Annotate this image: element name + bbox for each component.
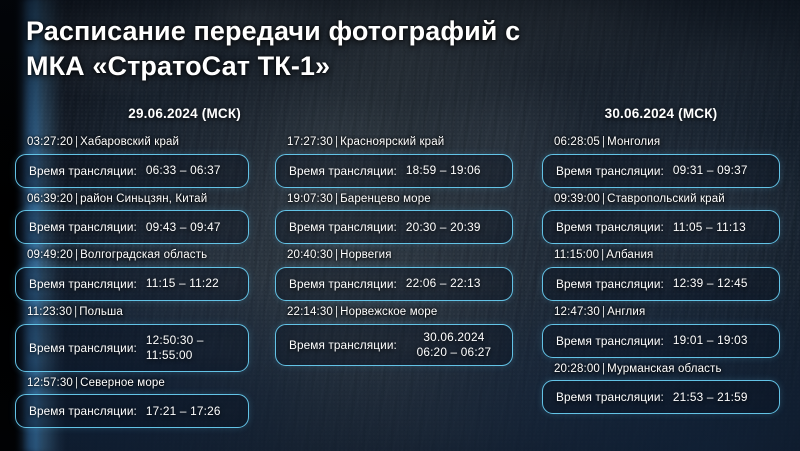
event-time: 06:28:05 [554,136,600,148]
satellite-schedule-screen: Расписание передачи фотографий с МКА «Ст… [0,0,800,451]
event-separator: | [73,136,80,148]
broadcast-time-range: 22:06 – 22:13 [406,276,481,291]
broadcast-time-range: 19:01 – 19:03 [673,333,748,348]
broadcast-label: Время трансляции: [289,220,397,234]
event-location: Хабаровский край [80,136,179,148]
event-line: 06:28:05|Монголия [542,132,780,154]
schedule-entry: 06:28:05|МонголияВремя трансляции:09:31 … [542,132,780,188]
broadcast-label: Время трансляции: [289,277,397,291]
event-location: Норвежское море [340,306,437,318]
event-line: 22:14:30|Норвежское море [275,302,513,324]
event-line: 12:57:30|Северное море [15,373,249,395]
event-separator: | [73,377,80,389]
schedule-entry: 03:27:20|Хабаровский крайВремя трансляци… [15,132,249,188]
schedule-column-0: 29.06.2024 (МСК)03:27:20|Хабаровский кра… [15,106,249,429]
broadcast-window-pill[interactable]: Время трансляции:18:59 – 19:06 [275,154,513,188]
broadcast-window-pill[interactable]: Время трансляции:30.06.2024 06:20 – 06:2… [275,324,513,366]
broadcast-time-range: 12:39 – 12:45 [673,276,748,291]
event-line: 03:27:20|Хабаровский край [15,132,249,154]
schedule-entry: 20:28:00|Мурманская областьВремя трансля… [542,359,780,415]
event-separator: | [600,363,607,375]
event-time: 12:47:30 [554,306,600,318]
event-location: Норвегия [340,249,392,261]
schedule-entry: 09:49:20|Волгоградская областьВремя тран… [15,245,249,301]
broadcast-time-range: 12:50:30 – 11:55:00 [146,333,238,363]
event-time: 20:28:00 [554,363,600,375]
schedule-entry: 22:14:30|Норвежское мореВремя трансляции… [275,302,513,366]
event-location: Ставропольский край [607,193,725,205]
broadcast-label: Время трансляции: [556,390,664,404]
event-line: 09:39:00|Ставропольский край [542,189,780,211]
broadcast-time-range: 30.06.2024 06:20 – 06:27 [406,330,502,360]
schedule-entry: 19:07:30|Баренцево мореВремя трансляции:… [275,189,513,245]
event-location: Польша [79,306,123,318]
broadcast-time-range: 21:53 – 21:59 [673,390,748,405]
broadcast-label: Время трансляции: [289,164,397,178]
schedule-entry: 12:57:30|Северное мореВремя трансляции:1… [15,373,249,429]
event-separator: | [600,136,607,148]
event-time: 09:49:20 [27,249,73,261]
column-date-header: 30.06.2024 (МСК) [542,106,780,132]
broadcast-time-range: 20:30 – 20:39 [406,220,481,235]
event-line: 17:27:30|Красноярский край [275,132,513,154]
event-separator: | [73,249,80,261]
schedule-entry: 06:39:20|район Синьцзян, КитайВремя тран… [15,189,249,245]
schedule-column-2: 30.06.2024 (МСК)06:28:05|МонголияВремя т… [542,106,780,415]
broadcast-label: Время трансляции: [29,164,137,178]
event-location: Албания [606,249,653,261]
event-separator: | [333,249,340,261]
event-time: 11:23:30 [27,306,72,318]
schedule-entry: 20:40:30|НорвегияВремя трансляции:22:06 … [275,245,513,301]
event-time: 03:27:20 [27,136,73,148]
event-location: Баренцево море [340,193,431,205]
event-time: 22:14:30 [287,306,333,318]
event-line: 09:49:20|Волгоградская область [15,245,249,267]
broadcast-window-pill[interactable]: Время трансляции:06:33 – 06:37 [15,154,249,188]
event-location: Волгоградская область [80,249,207,261]
broadcast-time-range: 09:43 – 09:47 [146,220,221,235]
event-separator: | [600,193,607,205]
schedule-entry: 11:15:00|АлбанияВремя трансляции:12:39 –… [542,245,780,301]
event-separator: | [333,306,340,318]
event-time: 17:27:30 [287,136,333,148]
schedule-columns: 29.06.2024 (МСК)03:27:20|Хабаровский кра… [0,106,800,451]
event-location: Монголия [607,136,660,148]
broadcast-window-pill[interactable]: Время трансляции:09:31 – 09:37 [542,154,780,188]
broadcast-window-pill[interactable]: Время трансляции:11:15 – 11:22 [15,267,249,301]
event-separator: | [73,193,80,205]
event-location: район Синьцзян, Китай [80,193,207,205]
broadcast-time-range: 11:15 – 11:22 [146,276,219,291]
event-line: 12:47:30|Англия [542,302,780,324]
event-line: 11:15:00|Албания [542,245,780,267]
event-line: 20:40:30|Норвегия [275,245,513,267]
page-title: Расписание передачи фотографий с МКА «Ст… [26,14,546,83]
event-time: 20:40:30 [287,249,333,261]
event-location: Красноярский край [340,136,444,148]
broadcast-window-pill[interactable]: Время трансляции:11:05 – 11:13 [542,210,780,244]
schedule-column-1: 17:27:30|Красноярский крайВремя трансляц… [275,106,513,367]
schedule-entry: 09:39:00|Ставропольский крайВремя трансл… [542,189,780,245]
event-separator: | [599,249,606,261]
column-date-header: 29.06.2024 (МСК) [15,106,249,132]
event-time: 06:39:20 [27,193,73,205]
event-location: Северное море [80,377,165,389]
event-location: Англия [607,306,645,318]
broadcast-time-range: 18:59 – 19:06 [406,163,481,178]
broadcast-time-range: 11:05 – 11:13 [673,220,746,235]
broadcast-label: Время трансляции: [289,338,397,352]
broadcast-label: Время трансляции: [556,220,664,234]
broadcast-window-pill[interactable]: Время трансляции:17:21 – 17:26 [15,394,249,428]
event-time: 11:15:00 [554,249,599,261]
event-separator: | [72,306,79,318]
broadcast-window-pill[interactable]: Время трансляции:12:50:30 – 11:55:00 [15,324,249,372]
event-separator: | [600,306,607,318]
event-location: Мурманская область [607,363,722,375]
event-time: 12:57:30 [27,377,73,389]
event-line: 20:28:00|Мурманская область [542,359,780,381]
broadcast-label: Время трансляции: [556,334,664,348]
broadcast-label: Время трансляции: [29,404,137,418]
schedule-entry: 17:27:30|Красноярский крайВремя трансляц… [275,132,513,188]
broadcast-window-pill[interactable]: Время трансляции:12:39 – 12:45 [542,267,780,301]
broadcast-window-pill[interactable]: Время трансляции:09:43 – 09:47 [15,210,249,244]
event-line: 19:07:30|Баренцево море [275,189,513,211]
schedule-entry: 11:23:30|ПольшаВремя трансляции:12:50:30… [15,302,249,372]
broadcast-time-range: 09:31 – 09:37 [673,163,748,178]
event-time: 19:07:30 [287,193,333,205]
event-separator: | [333,136,340,148]
broadcast-time-range: 17:21 – 17:26 [146,404,221,419]
broadcast-time-range: 06:33 – 06:37 [146,163,221,178]
broadcast-label: Время трансляции: [556,164,664,178]
broadcast-label: Время трансляции: [29,220,137,234]
broadcast-label: Время трансляции: [556,277,664,291]
broadcast-label: Время трансляции: [29,341,137,355]
broadcast-label: Время трансляции: [29,277,137,291]
broadcast-window-pill[interactable]: Время трансляции:22:06 – 22:13 [275,267,513,301]
broadcast-window-pill[interactable]: Время трансляции:21:53 – 21:59 [542,380,780,414]
broadcast-window-pill[interactable]: Время трансляции:19:01 – 19:03 [542,324,780,358]
event-separator: | [333,193,340,205]
event-line: 11:23:30|Польша [15,302,249,324]
event-line: 06:39:20|район Синьцзян, Китай [15,189,249,211]
broadcast-window-pill[interactable]: Время трансляции:20:30 – 20:39 [275,210,513,244]
schedule-entry: 12:47:30|АнглияВремя трансляции:19:01 – … [542,302,780,358]
event-time: 09:39:00 [554,193,600,205]
